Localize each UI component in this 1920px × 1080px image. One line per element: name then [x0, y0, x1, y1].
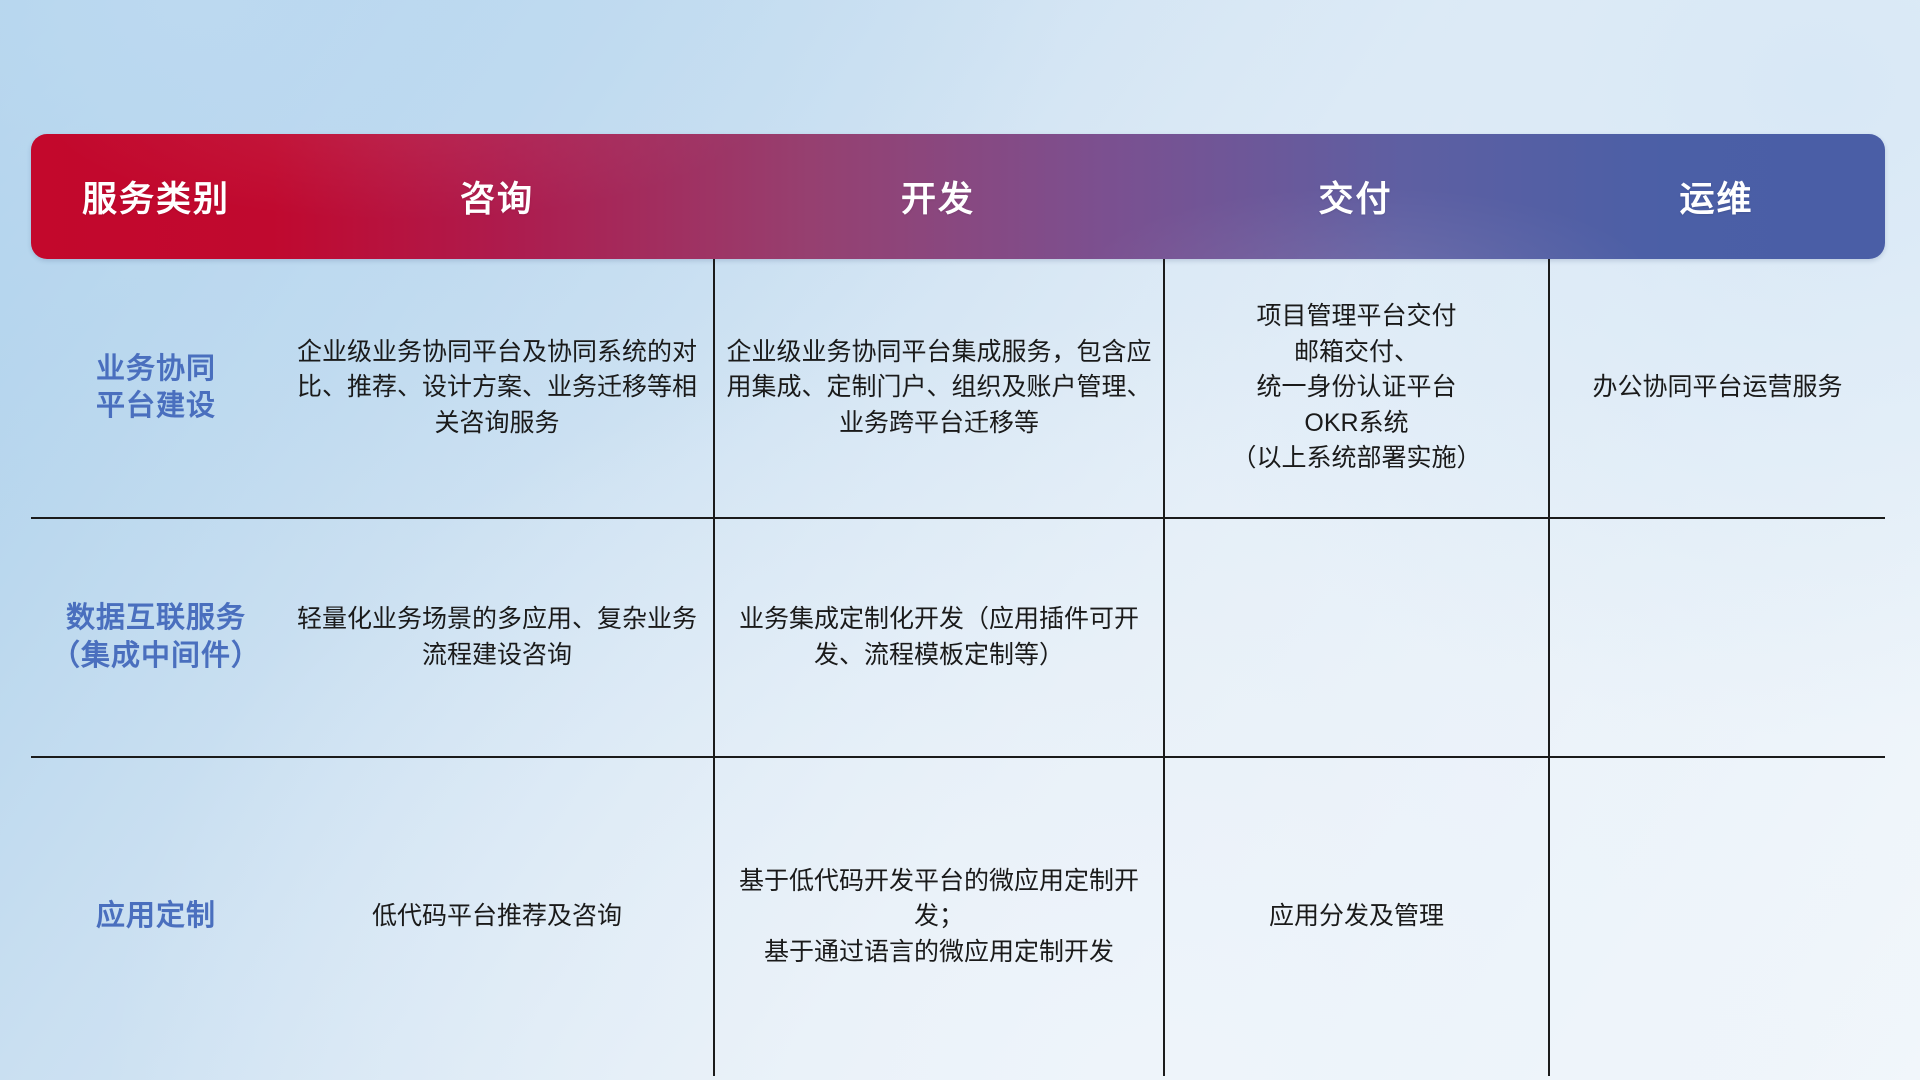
cell-text: 办公协同平台运营服务	[1592, 370, 1842, 406]
cell-development: 基于低代码开发平台的微应用定制开发；基于通过语言的微应用定制开发	[713, 758, 1163, 1076]
cell-delivery: 项目管理平台交付邮箱交付、统一身份认证平台OKR系统（以上系统部署实施）	[1163, 259, 1548, 517]
cell-text: 应用分发及管理	[1269, 899, 1444, 935]
table-header-row: 服务类别 咨询 开发 交付 运维	[31, 134, 1885, 259]
cell-operations	[1548, 758, 1885, 1076]
table-row: 数据互联服务（集成中间件） 轻量化业务场景的多应用、复杂业务流程建设咨询 业务集…	[31, 517, 1885, 756]
service-matrix-table: 服务类别 咨询 开发 交付 运维 业务协同平台建设 企业级业务协同平台及协同系统…	[31, 134, 1885, 950]
slide-canvas: 服务类别 咨询 开发 交付 运维 业务协同平台建设 企业级业务协同平台及协同系统…	[0, 0, 1920, 1080]
cell-text: 低代码平台推荐及咨询	[372, 899, 622, 935]
cell-text: 业务集成定制化开发（应用插件可开发、流程模板定制等）	[725, 602, 1153, 673]
cell-consulting: 企业级业务协同平台及协同系统的对比、推荐、设计方案、业务迁移等相关咨询服务	[281, 259, 713, 517]
cell-text: 基于低代码开发平台的微应用定制开发；基于通过语言的微应用定制开发	[725, 864, 1153, 971]
row-label-text: 业务协同平台建设	[96, 351, 216, 425]
cell-consulting: 轻量化业务场景的多应用、复杂业务流程建设咨询	[281, 519, 713, 756]
row-label-text: 数据互联服务（集成中间件）	[51, 600, 261, 674]
column-header-operations: 运维	[1548, 171, 1885, 222]
row-label-cell: 应用定制	[31, 758, 281, 1076]
table-row: 应用定制 低代码平台推荐及咨询 基于低代码开发平台的微应用定制开发；基于通过语言…	[31, 756, 1885, 1076]
table-row: 业务协同平台建设 企业级业务协同平台及协同系统的对比、推荐、设计方案、业务迁移等…	[31, 259, 1885, 517]
cell-operations: 办公协同平台运营服务	[1548, 259, 1885, 517]
cell-text: 项目管理平台交付邮箱交付、统一身份认证平台OKR系统（以上系统部署实施）	[1231, 299, 1481, 477]
cell-text: 轻量化业务场景的多应用、复杂业务流程建设咨询	[291, 602, 703, 673]
cell-consulting: 低代码平台推荐及咨询	[281, 758, 713, 1076]
column-header-delivery: 交付	[1163, 171, 1548, 222]
column-header-development: 开发	[713, 171, 1163, 222]
cell-text: 企业级业务协同平台集成服务，包含应用集成、定制门户、组织及账户管理、业务跨平台迁…	[725, 335, 1153, 442]
row-label-cell: 业务协同平台建设	[31, 259, 281, 517]
column-header-category: 服务类别	[31, 171, 281, 222]
cell-text: 企业级业务协同平台及协同系统的对比、推荐、设计方案、业务迁移等相关咨询服务	[291, 335, 703, 442]
row-label-cell: 数据互联服务（集成中间件）	[31, 519, 281, 756]
cell-operations	[1548, 519, 1885, 756]
cell-delivery: 应用分发及管理	[1163, 758, 1548, 1076]
cell-development: 业务集成定制化开发（应用插件可开发、流程模板定制等）	[713, 519, 1163, 756]
column-header-consulting: 咨询	[281, 171, 713, 222]
cell-development: 企业级业务协同平台集成服务，包含应用集成、定制门户、组织及账户管理、业务跨平台迁…	[713, 259, 1163, 517]
table-body: 业务协同平台建设 企业级业务协同平台及协同系统的对比、推荐、设计方案、业务迁移等…	[31, 259, 1885, 1076]
cell-delivery	[1163, 519, 1548, 756]
row-label-text: 应用定制	[96, 898, 216, 935]
